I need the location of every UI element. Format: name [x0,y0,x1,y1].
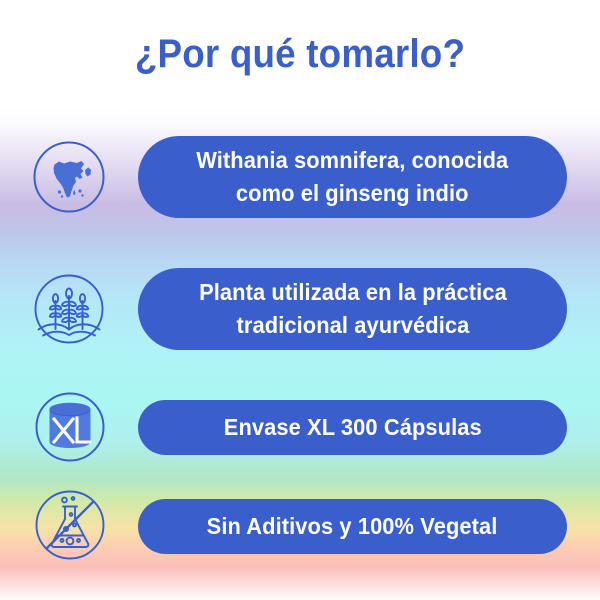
india-map-icon [32,140,106,214]
no-chemicals-flask-icon [33,488,107,562]
page-title: ¿Por qué tomarlo? [24,34,576,74]
wheat-plants-icon [32,272,106,346]
benefit-pill-3-label: Envase XL 300 Cápsulas [224,416,482,439]
benefit-pill-2-label: Planta utilizada en la práctica tradicio… [199,276,507,341]
benefit-pill-1-label: Withania somnifera, conocida como el gin… [196,144,508,209]
benefit-pill-4-label: Sin Aditivos y 100% Vegetal [207,515,498,538]
infographic-poster: ¿Por qué tomarlo? Withania somnifera, co… [0,0,600,600]
benefit-pill-4: Sin Aditivos y 100% Vegetal [138,499,567,554]
xl-jar-icon [33,390,107,464]
benefit-pill-3: Envase XL 300 Cápsulas [138,400,567,455]
benefit-pill-2: Planta utilizada en la práctica tradicio… [138,268,567,350]
benefit-pill-1: Withania somnifera, conocida como el gin… [138,136,567,218]
